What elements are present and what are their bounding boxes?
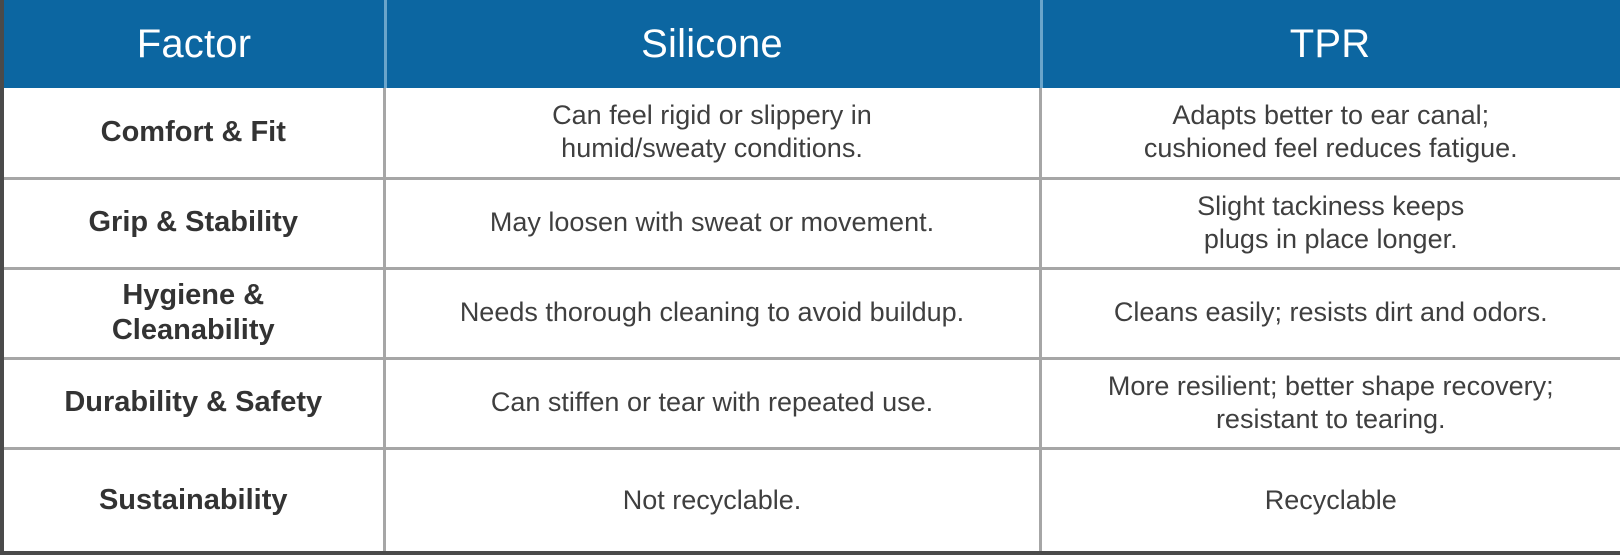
- silicone-line: Needs thorough cleaning to avoid buildup…: [400, 296, 1025, 329]
- cell-tpr: Slight tackiness keeps plugs in place lo…: [1040, 178, 1620, 268]
- cell-silicone: Needs thorough cleaning to avoid buildup…: [384, 268, 1040, 358]
- table-row: Hygiene & Cleanability Needs thorough cl…: [2, 268, 1620, 358]
- silicone-line: Not recyclable.: [400, 484, 1025, 517]
- cell-tpr: Cleans easily; resists dirt and odors.: [1040, 268, 1620, 358]
- table-body: Comfort & Fit Can feel rigid or slippery…: [2, 88, 1620, 553]
- table-header-row: Factor Silicone TPR: [2, 0, 1620, 88]
- tpr-line: Adapts better to ear canal;: [1056, 99, 1607, 132]
- factor-text: Sustainability: [14, 483, 373, 518]
- factor-text: Durability & Safety: [14, 385, 373, 420]
- tpr-line: Slight tackiness keeps: [1056, 190, 1607, 223]
- tpr-line: Recyclable: [1056, 484, 1607, 517]
- factor-line: Cleanability: [14, 313, 373, 348]
- table-row: Sustainability Not recyclable. Recyclabl…: [2, 448, 1620, 553]
- silicone-text: Needs thorough cleaning to avoid buildup…: [400, 296, 1025, 329]
- factor-line: Comfort & Fit: [14, 115, 373, 150]
- silicone-line: humid/sweaty conditions.: [400, 132, 1025, 165]
- silicone-line: Can stiffen or tear with repeated use.: [400, 386, 1025, 419]
- factor-text: Grip & Stability: [14, 205, 373, 240]
- factor-text: Hygiene & Cleanability: [14, 278, 373, 349]
- cell-tpr: More resilient; better shape recovery; r…: [1040, 358, 1620, 448]
- tpr-text: Adapts better to ear canal; cushioned fe…: [1056, 99, 1607, 166]
- cell-tpr: Adapts better to ear canal; cushioned fe…: [1040, 88, 1620, 178]
- tpr-line: resistant to tearing.: [1056, 403, 1607, 436]
- tpr-line: plugs in place longer.: [1056, 223, 1607, 256]
- factor-line: Hygiene &: [14, 278, 373, 313]
- cell-silicone: May loosen with sweat or movement.: [384, 178, 1040, 268]
- column-header-silicone: Silicone: [384, 0, 1040, 88]
- tpr-line: Cleans easily; resists dirt and odors.: [1056, 296, 1607, 329]
- table-row: Durability & Safety Can stiffen or tear …: [2, 358, 1620, 448]
- silicone-text: May loosen with sweat or movement.: [400, 206, 1025, 239]
- comparison-table: Factor Silicone TPR Comfort & Fit Can fe…: [0, 0, 1620, 555]
- silicone-text: Can stiffen or tear with repeated use.: [400, 386, 1025, 419]
- silicone-line: Can feel rigid or slippery in: [400, 99, 1025, 132]
- table-row: Grip & Stability May loosen with sweat o…: [2, 178, 1620, 268]
- tpr-text: More resilient; better shape recovery; r…: [1056, 370, 1607, 437]
- cell-factor: Comfort & Fit: [2, 88, 384, 178]
- tpr-line: cushioned feel reduces fatigue.: [1056, 132, 1607, 165]
- comparison-table-container: Factor Silicone TPR Comfort & Fit Can fe…: [0, 0, 1620, 548]
- tpr-line: More resilient; better shape recovery;: [1056, 370, 1607, 403]
- tpr-text: Recyclable: [1056, 484, 1607, 517]
- table-row: Comfort & Fit Can feel rigid or slippery…: [2, 88, 1620, 178]
- tpr-text: Slight tackiness keeps plugs in place lo…: [1056, 190, 1607, 257]
- column-header-tpr: TPR: [1040, 0, 1620, 88]
- table-header: Factor Silicone TPR: [2, 0, 1620, 88]
- tpr-text: Cleans easily; resists dirt and odors.: [1056, 296, 1607, 329]
- factor-text: Comfort & Fit: [14, 115, 373, 150]
- factor-line: Grip & Stability: [14, 205, 373, 240]
- cell-silicone: Can stiffen or tear with repeated use.: [384, 358, 1040, 448]
- factor-line: Sustainability: [14, 483, 373, 518]
- cell-factor: Durability & Safety: [2, 358, 384, 448]
- cell-tpr: Recyclable: [1040, 448, 1620, 553]
- cell-factor: Hygiene & Cleanability: [2, 268, 384, 358]
- column-header-factor: Factor: [2, 0, 384, 88]
- factor-line: Durability & Safety: [14, 385, 373, 420]
- cell-factor: Sustainability: [2, 448, 384, 553]
- silicone-line: May loosen with sweat or movement.: [400, 206, 1025, 239]
- silicone-text: Not recyclable.: [400, 484, 1025, 517]
- cell-factor: Grip & Stability: [2, 178, 384, 268]
- cell-silicone: Can feel rigid or slippery in humid/swea…: [384, 88, 1040, 178]
- cell-silicone: Not recyclable.: [384, 448, 1040, 553]
- silicone-text: Can feel rigid or slippery in humid/swea…: [400, 99, 1025, 166]
